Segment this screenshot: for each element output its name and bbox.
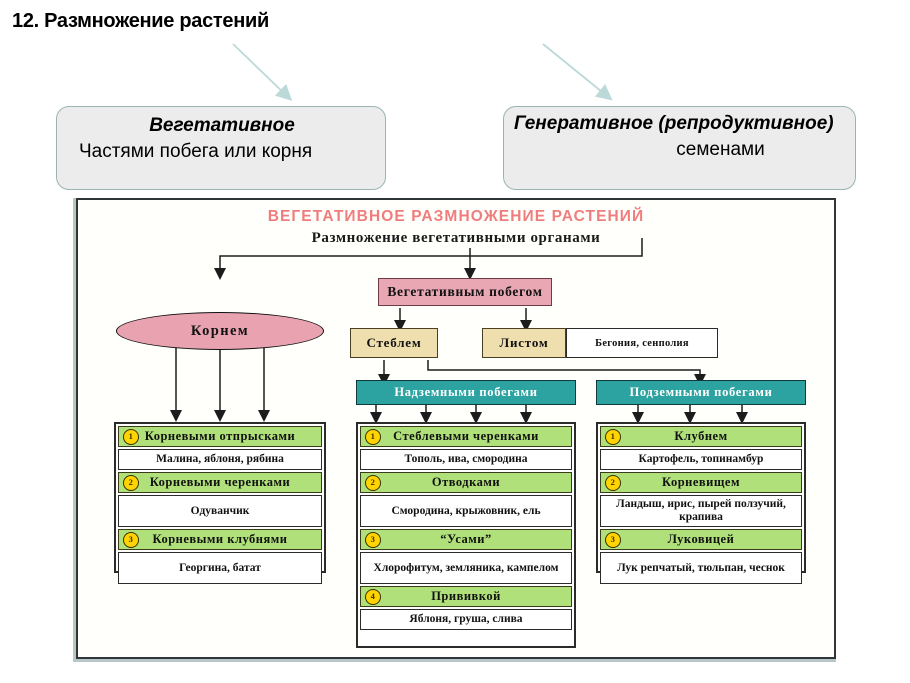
row-number-badge-icon: 3 [605,532,621,548]
method-row-header[interactable]: 2Корневыми черенками [118,472,322,493]
method-row-label: Клубнем [674,429,727,444]
row-number-badge-icon: 2 [365,475,381,491]
column-under-ground-methods: 1КлубнемКартофель, топинамбур2Корневищем… [596,422,806,573]
node-under-ground-shoots[interactable]: Подземными побегами [596,380,806,405]
callout-vegetative-inner: Вегетативное Частями побега или корня [57,113,387,165]
row-number-badge-icon: 1 [365,429,381,445]
row-number-badge-icon: 3 [123,532,139,548]
method-row-examples: Тополь, ива, смородина [360,449,572,470]
method-row-label: Корневищем [662,475,740,490]
method-row-label: Луковицей [668,532,735,547]
diagram-inner: ВЕГЕТАТИВНОЕ РАЗМНОЖЕНИЕ РАСТЕНИЙ Размно… [78,200,834,657]
row-number-badge-icon: 1 [605,429,621,445]
callout-vegetative-heading: Вегетативное [57,113,387,139]
row-number-badge-icon: 4 [365,589,381,605]
method-row-examples: Ландыш, ирис, пырей ползучий, крапива [600,495,802,527]
diagram-title: ВЕГЕТАТИВНОЕ РАЗМНОЖЕНИЕ РАСТЕНИЙ [78,208,834,226]
method-row-examples: Георгина, батат [118,552,322,584]
method-row-header[interactable]: 2Корневищем [600,472,802,493]
method-row-header[interactable]: 1Корневыми отпрысками [118,426,322,447]
method-row-label: Корневыми клубнями [153,532,288,547]
row-number-badge-icon: 3 [365,532,381,548]
arrow-to-generative-icon [537,40,627,108]
callout-vegetative-subtext: Частями побега или корня [57,139,387,165]
diagram-subtitle: Размножение вегетативными органами [78,230,834,247]
method-row-header[interactable]: 1Клубнем [600,426,802,447]
callout-generative-inner: Генеративное (репродуктивное) семенами [514,111,857,163]
method-row-examples: Картофель, топинамбур [600,449,802,470]
arrow-to-vegetative-icon [225,40,305,108]
method-row-examples: Яблоня, груша, слива [360,609,572,630]
node-root-ellipse[interactable]: Корнем [116,312,324,350]
method-row-header[interactable]: 3Луковицей [600,529,802,550]
method-row-header[interactable]: 2Отводками [360,472,572,493]
node-stem[interactable]: Стеблем [350,328,438,358]
slide-canvas: 12. Размножение растений Вегетативное Ча… [0,0,910,683]
node-leaf[interactable]: Листом [482,328,566,358]
method-row-label: Корневыми черенками [150,475,291,490]
node-vegetative-shoot[interactable]: Вегетативным побегом [378,278,552,306]
method-row-examples: Одуванчик [118,495,322,527]
callout-generative[interactable]: Генеративное (репродуктивное) семенами [503,106,856,190]
node-above-ground-shoots[interactable]: Надземными побегами [356,380,576,405]
method-row-label: Отводками [432,475,500,490]
method-row-header[interactable]: 3Корневыми клубнями [118,529,322,550]
callout-vegetative[interactable]: Вегетативное Частями побега или корня [56,106,386,190]
callout-generative-subtext: семенами [514,137,857,163]
row-number-badge-icon: 2 [605,475,621,491]
method-row-header[interactable]: 1Стеблевыми черенками [360,426,572,447]
diagram-frame: ВЕГЕТАТИВНОЕ РАЗМНОЖЕНИЕ РАСТЕНИЙ Размно… [76,198,836,659]
method-row-examples: Лук репчатый, тюльпан, чеснок [600,552,802,584]
node-leaf-examples: Бегония, сенполия [566,328,718,358]
method-row-header[interactable]: 3“Усами” [360,529,572,550]
row-number-badge-icon: 2 [123,475,139,491]
column-root-methods: 1Корневыми отпрыскамиМалина, яблоня, ряб… [114,422,326,573]
method-row-examples: Малина, яблоня, рябина [118,449,322,470]
method-row-label: Прививкой [431,589,501,604]
method-row-examples: Хлорофитум, земляника, кампелом [360,552,572,584]
method-row-label: “Усами” [440,532,492,547]
method-row-label: Стеблевыми черенками [393,429,539,444]
callout-generative-heading: Генеративное (репродуктивное) [514,111,857,137]
row-number-badge-icon: 1 [123,429,139,445]
method-row-header[interactable]: 4Прививкой [360,586,572,607]
column-above-ground-methods: 1Стеблевыми черенкамиТополь, ива, смород… [356,422,576,648]
page-title: 12. Размножение растений [12,10,269,33]
method-row-examples: Смородина, крыжовник, ель [360,495,572,527]
method-row-label: Корневыми отпрысками [145,429,295,444]
